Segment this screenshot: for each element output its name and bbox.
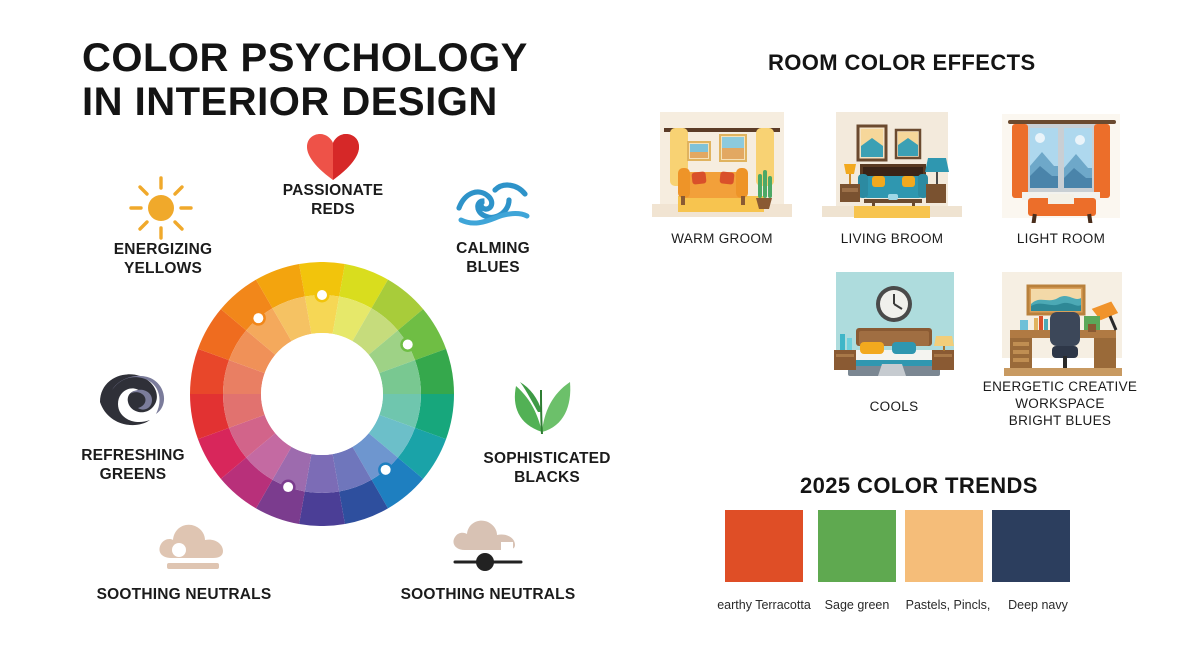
room-illustration-workspace-room[interactable] xyxy=(988,268,1138,380)
cloud-icon xyxy=(155,518,231,579)
room-illustration-living-room[interactable] xyxy=(822,108,962,223)
room-illustration-cool-room[interactable] xyxy=(820,268,968,378)
page-title-line1: COLOR PSYCHOLOGY xyxy=(82,36,528,80)
swatch-terracotta[interactable] xyxy=(725,510,803,582)
room-effects-heading: ROOM COLOR EFFECTS xyxy=(768,50,1036,76)
sun-icon xyxy=(128,175,194,246)
wave-icon xyxy=(455,178,531,231)
heart-icon xyxy=(305,133,361,186)
infographic-canvas: COLOR PSYCHOLOGY IN INTERIOR DESIGN xyxy=(0,0,1200,654)
room-illustration-warm-room[interactable] xyxy=(652,108,792,223)
cloud-slider-icon xyxy=(445,516,527,579)
wheel-segment-outer-9[interactable] xyxy=(299,491,345,526)
room-caption-cool-room: COOLS xyxy=(820,398,968,415)
wheel-marker-2[interactable] xyxy=(381,465,391,475)
swatch-sage-green[interactable] xyxy=(818,510,896,582)
dark-wave-icon xyxy=(92,368,174,435)
room-caption-workspace-room: ENERGETIC CREATIVE WORKSPACE BRIGHT BLUE… xyxy=(980,378,1140,429)
wheel-label-sophisticated-blacks: SOPHISTICATED BLACKS xyxy=(462,449,632,487)
wheel-label-soothing-neutrals-left: SOOTHING NEUTRALS xyxy=(94,585,274,604)
trends-heading: 2025 COLOR TRENDS xyxy=(800,473,1038,499)
page-title: COLOR PSYCHOLOGY IN INTERIOR DESIGN xyxy=(82,36,552,124)
wheel-label-soothing-neutrals-right: SOOTHING NEUTRALS xyxy=(398,585,578,604)
room-caption-living-room: LIVING BROOM xyxy=(822,230,962,247)
room-caption-warm-room: WARM GROOM xyxy=(652,230,792,247)
color-wheel[interactable] xyxy=(190,262,454,526)
page-title-line2: IN INTERIOR DESIGN xyxy=(82,80,552,124)
wheel-marker-1[interactable] xyxy=(403,340,413,350)
wheel-marker-0[interactable] xyxy=(317,290,327,300)
swatch-label-pastels: Pastels, Pincls, xyxy=(896,598,1000,613)
room-illustration-light-room[interactable] xyxy=(992,108,1130,223)
swatch-pastels[interactable] xyxy=(905,510,983,582)
leaf-icon xyxy=(508,372,576,439)
swatch-deep-navy[interactable] xyxy=(992,510,1070,582)
wheel-marker-3[interactable] xyxy=(283,482,293,492)
swatch-label-deep-navy: Deep navy xyxy=(988,598,1088,613)
wheel-marker-4[interactable] xyxy=(253,313,263,323)
room-caption-light-room: LIGHT ROOM xyxy=(992,230,1130,247)
wheel-label-passionate-reds: PASSIONATE REDS xyxy=(248,181,418,219)
